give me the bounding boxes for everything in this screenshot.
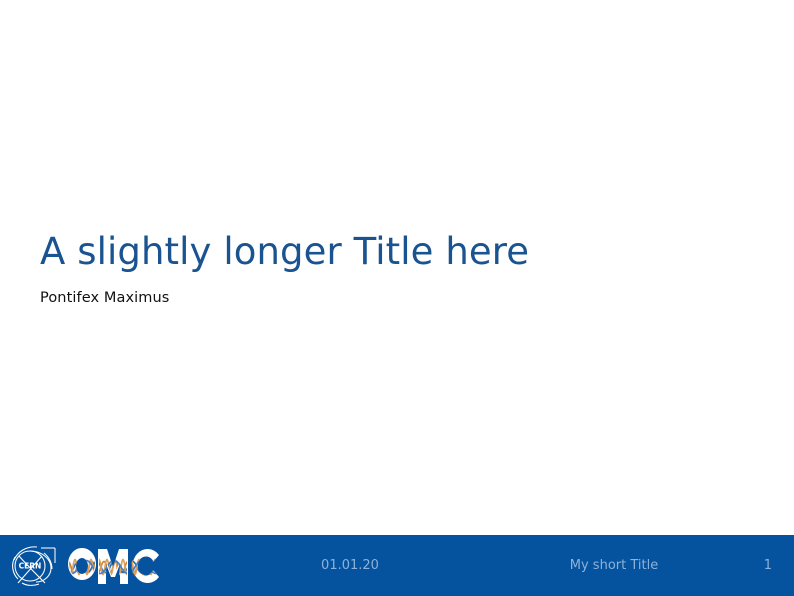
page-title: A slightly longer Title here bbox=[40, 232, 740, 273]
footer-page-number: 1 bbox=[764, 535, 772, 596]
slide-footer-bar: CERN bbox=[0, 535, 794, 596]
presentation-slide: A slightly longer Title here Pontifex Ma… bbox=[0, 0, 794, 596]
slide-author: Pontifex Maximus bbox=[40, 290, 740, 306]
title-block: A slightly longer Title here Pontifex Ma… bbox=[40, 232, 740, 306]
footer-short-title: My short Title bbox=[217, 535, 794, 596]
